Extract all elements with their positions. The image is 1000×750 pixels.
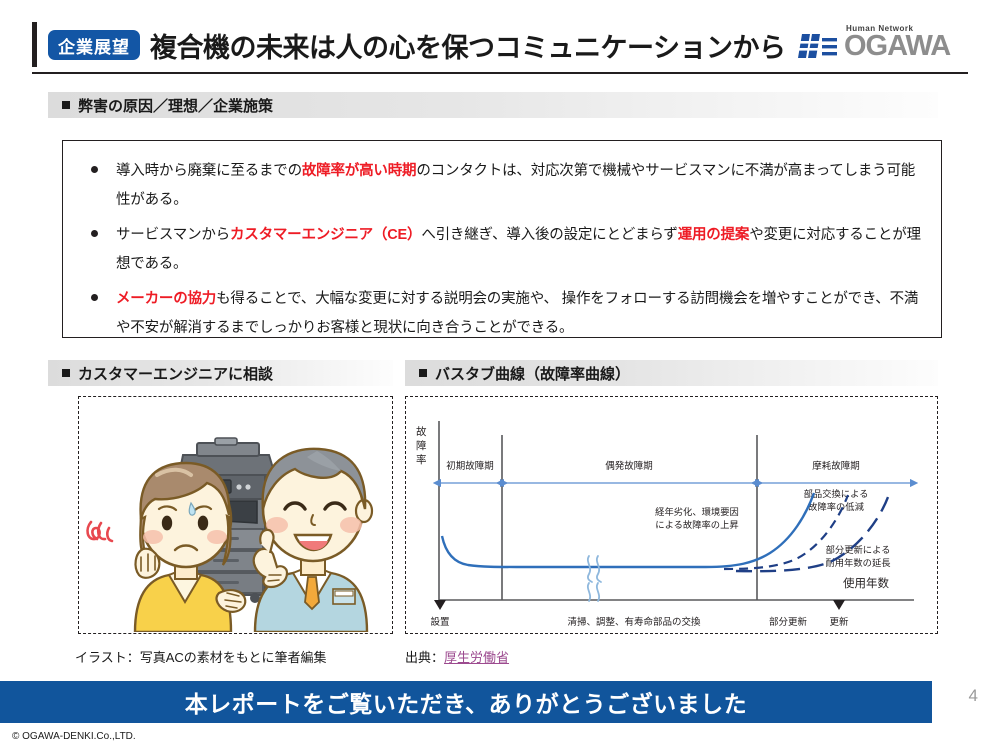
logo-mark-icon [798,32,838,60]
bullet-accent-text: メーカーの協力 [116,291,216,307]
bullet-plain-text: 導入時から廃棄に至るまでの [116,163,302,179]
bullet-box: 導入時から廃棄に至るまでの故障率が高い時期のコンタクトは、対応次第で機械やサービ… [62,140,942,338]
customer-engineer-man-illustration [254,449,372,632]
square-bullet-icon [419,369,427,377]
chart-section-heading-label: バスタブ曲線（故障率曲線） [435,363,630,384]
footer-message: 本レポートをご覧いただき、ありがとうございました [0,681,932,723]
chart-annotation-parts-line2: 故障率の低減 [808,501,864,512]
illustration-section-heading-label: カスタマーエンジニアに相談 [78,363,273,384]
bathtub-curve-chart-panel: 故 障 率 初期故障期 偶発故障期 摩耗故障期 [405,396,938,634]
bullet-accent-text: 故障率が高い時期 [302,163,416,179]
ogawa-logo: Human Network OGAWA [798,24,978,66]
square-bullet-icon [62,101,70,109]
bullet-dot-icon [91,166,98,173]
bullet-item: 導入時から廃棄に至るまでの故障率が高い時期のコンタクトは、対応次第で機械やサービ… [87,157,923,215]
chart-annotation-aging-line1: 経年劣化、環境要因 [655,506,739,517]
chart-x-axis-label: 使用年数 [843,576,889,590]
logo-wordmark: OGAWA [844,32,950,61]
bullet-dot-icon [91,230,98,237]
bullet-text: メーカーの協力も得ることで、大幅な変更に対する説明会の実施や、 操作をフォローす… [116,285,923,343]
chart-x-marker-3: 更新 [829,616,849,628]
chart-caption-prefix: 出典： [405,650,444,665]
square-bullet-icon [62,369,70,377]
chart-phase-label-1: 偶発故障期 [605,460,653,472]
bullet-plain-text: も得ることで、大幅な変更に対する説明会の実施や、 操作をフォローする訪問機会を増… [116,291,918,336]
customer-engineer-illustration [79,397,391,632]
page-number: 4 [969,686,978,706]
bullet-accent-text: 運用の提案 [678,227,750,243]
chart-phase-label-0: 初期故障期 [446,460,494,472]
chart-caption: 出典：厚生労働省 [405,647,509,666]
chart-x-marker-0: 設置 [430,616,449,628]
svg-text:故: 故 [416,425,427,438]
bullet-plain-text: サービスマンから [116,227,230,243]
chart-x-marker-1: 清掃、調整、有寿命部品の交換 [567,616,701,628]
illustration-section-heading: カスタマーエンジニアに相談 [48,360,393,386]
slide-header: 企業展望 複合機の未来は人の心を保つコミュニケーションから Hu [0,0,1000,82]
chart-source-link[interactable]: 厚生労働省 [444,650,509,665]
svg-text:率: 率 [416,453,427,466]
bathtub-curve-chart: 故 障 率 初期故障期 偶発故障期 摩耗故障期 [406,397,936,632]
bullet-dot-icon [91,294,98,301]
illustration-panel [78,396,393,634]
bullet-list: 導入時から廃棄に至るまでの故障率が高い時期のコンタクトは、対応次第で機械やサービ… [63,141,941,343]
chart-annotation-renewal-line1: 部分更新による [826,544,891,555]
bullet-item: メーカーの協力も得ることで、大幅な変更に対する説明会の実施や、 操作をフォローす… [87,285,923,343]
header-accent-bar [32,22,37,67]
svg-text:障: 障 [416,439,427,452]
header-divider [32,72,968,74]
bullet-accent-text: カスタマーエンジニア（CE） [230,227,421,243]
page-title: 複合機の未来は人の心を保つコミュニケーションから [150,26,785,65]
chart-x-marker-2: 部分更新 [769,616,808,628]
bullets-section-heading-label: 弊害の原因／理想／企業施策 [78,95,273,116]
chart-y-axis-label: 故 障 率 [416,425,427,466]
bullet-text: サービスマンからカスタマーエンジニア（CE）へ引き継ぎ、導入後の設定にとどまらず… [116,221,923,279]
illustration-caption: イラスト：写真ACの素材をもとに筆者編集 [75,647,327,666]
bullets-section-heading: 弊害の原因／理想／企業施策 [48,92,938,118]
bullet-plain-text: へ引き継ぎ、導入後の設定にとどまらず [421,227,677,243]
chart-section-heading: バスタブ曲線（故障率曲線） [405,360,938,386]
copyright-notice: © OGAWA-DENKI.Co.,LTD. [12,731,136,742]
chart-annotation-aging-line2: による故障率の上昇 [655,519,738,530]
bullet-text: 導入時から廃棄に至るまでの故障率が高い時期のコンタクトは、対応次第で機械やサービ… [116,157,923,215]
bullet-item: サービスマンからカスタマーエンジニア（CE）へ引き継ぎ、導入後の設定にとどまらず… [87,221,923,279]
chart-phase-label-2: 摩耗故障期 [812,460,860,472]
header-badge: 企業展望 [48,30,140,60]
